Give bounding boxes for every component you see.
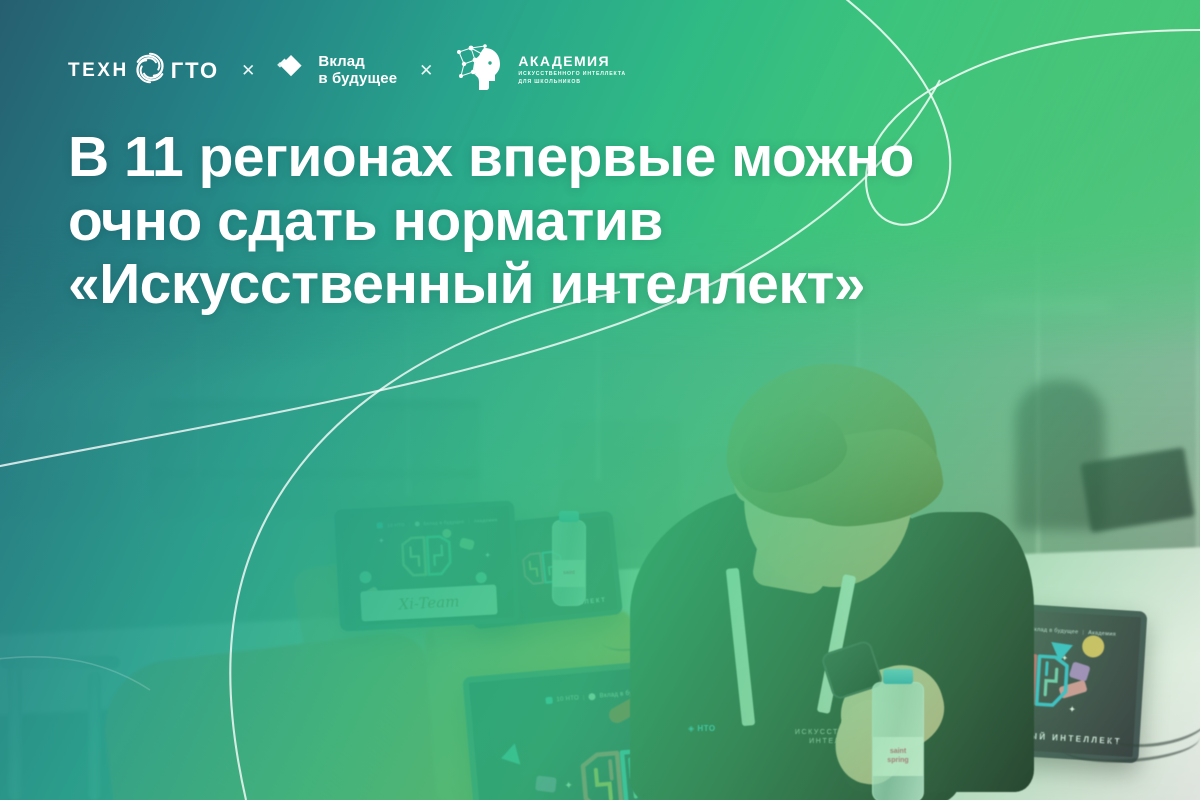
techno-gto-logo[interactable]: ТЕХН ГТО bbox=[68, 49, 219, 92]
partner-logo-row: ТЕХН ГТО ✕ bbox=[68, 42, 626, 99]
poster-canvas: ai-brain-outline ЛЛЕКТ bbox=[0, 0, 1200, 800]
page-title: В 11 регионах впервые можно очно сдать н… bbox=[68, 126, 1138, 317]
academy-subtitle-2: для школьников bbox=[518, 79, 626, 87]
rhombus-emblem-icon bbox=[277, 52, 309, 89]
vklad-line-1: Вклад bbox=[318, 53, 364, 70]
vklad-line-2: в будущее bbox=[318, 70, 397, 87]
logo-separator-1: ✕ bbox=[241, 62, 255, 79]
vklad-wordmark: Вклад в будущее bbox=[318, 54, 397, 88]
academy-wordmark: АКАДЕМИЯ искусственного интеллекта для ш… bbox=[518, 54, 626, 86]
techno-word: ТЕХН bbox=[68, 61, 129, 80]
headline-line-1: В 11 регионах впервые можно bbox=[68, 126, 1138, 190]
headline-line-2: очно сдать норматив bbox=[68, 190, 1138, 254]
academy-subtitle-1: искусственного интеллекта bbox=[518, 71, 626, 79]
academy-title: АКАДЕМИЯ bbox=[518, 54, 626, 68]
academy-ai-logo[interactable]: АКАДЕМИЯ искусственного интеллекта для ш… bbox=[455, 42, 626, 99]
headline-line-3: «Искусственный интеллект» bbox=[68, 253, 1138, 317]
logo-separator-2: ✕ bbox=[419, 62, 433, 79]
ring-flower-emblem-icon bbox=[131, 49, 169, 92]
neural-head-emblem-icon bbox=[455, 42, 509, 99]
vklad-v-buduschee-logo[interactable]: Вклад в будущее bbox=[277, 52, 397, 89]
gto-word: ГТО bbox=[171, 60, 219, 82]
